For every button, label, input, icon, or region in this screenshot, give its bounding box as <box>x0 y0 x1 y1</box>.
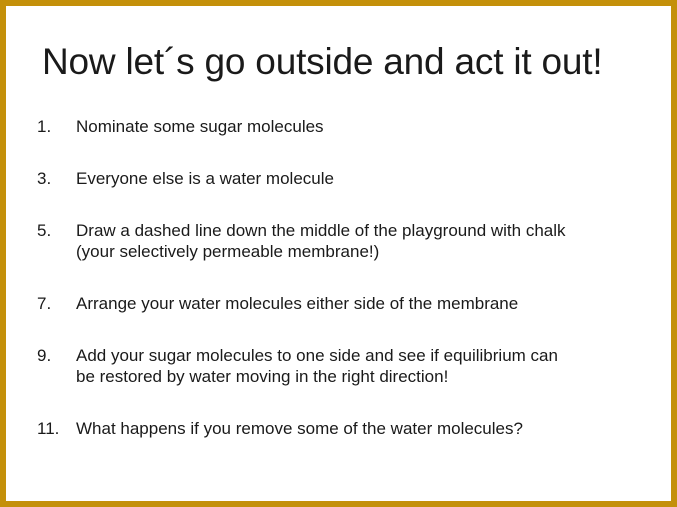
list-item: 3.Everyone else is a water molecule <box>37 168 661 189</box>
slide-canvas: Now let´s go outside and act it out! 1.N… <box>0 0 677 507</box>
list-item: 11.What happens if you remove some of th… <box>37 418 661 439</box>
list-item-text: Nominate some sugar molecules <box>76 116 642 137</box>
instruction-list: 1.Nominate some sugar molecules3.Everyon… <box>37 116 661 439</box>
slide-content-area: Now let´s go outside and act it out! 1.N… <box>6 6 671 501</box>
list-item-marker: 5. <box>37 220 76 241</box>
list-item-text-line: Nominate some sugar molecules <box>76 116 642 137</box>
list-item: 7.Arrange your water molecules either si… <box>37 293 661 314</box>
list-item-marker: 7. <box>37 293 76 314</box>
list-item-text: Add your sugar molecules to one side and… <box>76 345 642 387</box>
list-item-text-line: (your selectively permeable membrane!) <box>76 241 642 262</box>
list-item-text: What happens if you remove some of the w… <box>76 418 642 439</box>
list-item-marker: 1. <box>37 116 76 137</box>
list-item-text: Arrange your water molecules either side… <box>76 293 642 314</box>
list-item-text-line: Add your sugar molecules to one side and… <box>76 345 642 366</box>
list-item-text-line: Arrange your water molecules either side… <box>76 293 642 314</box>
list-item-text-line: What happens if you remove some of the w… <box>76 418 642 439</box>
list-item: 9.Add your sugar molecules to one side a… <box>37 345 661 387</box>
list-item-marker: 3. <box>37 168 76 189</box>
list-item-text-line: Everyone else is a water molecule <box>76 168 642 189</box>
page-title: Now let´s go outside and act it out! <box>42 40 642 84</box>
list-item-marker: 9. <box>37 345 76 366</box>
list-item-text: Everyone else is a water molecule <box>76 168 642 189</box>
list-item: 1.Nominate some sugar molecules <box>37 116 661 137</box>
list-item-text-line: Draw a dashed line down the middle of th… <box>76 220 642 241</box>
list-item-text-line: be restored by water moving in the right… <box>76 366 642 387</box>
list-item-text: Draw a dashed line down the middle of th… <box>76 220 642 262</box>
list-item: 5.Draw a dashed line down the middle of … <box>37 220 661 262</box>
list-item-marker: 11. <box>37 418 76 439</box>
